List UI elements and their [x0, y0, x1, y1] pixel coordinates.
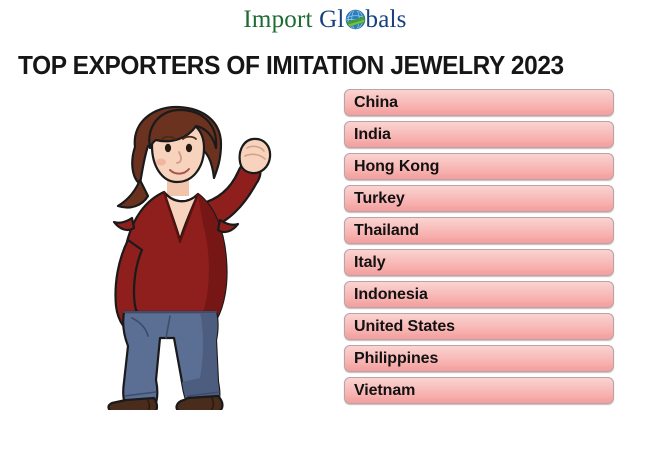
brand-word-import: Import	[243, 6, 312, 33]
top-exporters-list: China India Hong Kong Turkey Thailand It…	[344, 89, 614, 409]
list-item[interactable]: Vietnam	[344, 377, 614, 404]
list-item[interactable]: Italy	[344, 249, 614, 276]
globe-icon	[345, 9, 366, 30]
list-item-label: Hong Kong	[354, 159, 439, 175]
page-title: TOP EXPORTERS OF IMITATION JEWELRY 2023	[18, 50, 564, 81]
list-item[interactable]: United States	[344, 313, 614, 340]
list-item-label: Thailand	[354, 223, 419, 239]
list-item-label: Italy	[354, 255, 386, 271]
list-item[interactable]: Indonesia	[344, 281, 614, 308]
list-item-label: China	[354, 95, 398, 111]
list-item-label: Philippines	[354, 351, 438, 367]
list-item[interactable]: Thailand	[344, 217, 614, 244]
page-root: Import Gl bals TOP EXPORTERS OF IMIT	[0, 0, 650, 450]
standing-woman-illustration	[88, 100, 278, 410]
list-item[interactable]: Turkey	[344, 185, 614, 212]
brand-word-bals: bals	[366, 6, 407, 33]
list-item[interactable]: Philippines	[344, 345, 614, 372]
list-item-label: Turkey	[354, 191, 405, 207]
list-item-label: India	[354, 127, 391, 143]
list-item-label: Vietnam	[354, 383, 415, 399]
list-item[interactable]: China	[344, 89, 614, 116]
list-item[interactable]: Hong Kong	[344, 153, 614, 180]
list-item-label: Indonesia	[354, 287, 428, 303]
brand-logo: Import Gl bals	[0, 4, 650, 36]
list-item[interactable]: India	[344, 121, 614, 148]
brand-word-gl: Gl	[319, 6, 344, 33]
list-item-label: United States	[354, 319, 455, 335]
